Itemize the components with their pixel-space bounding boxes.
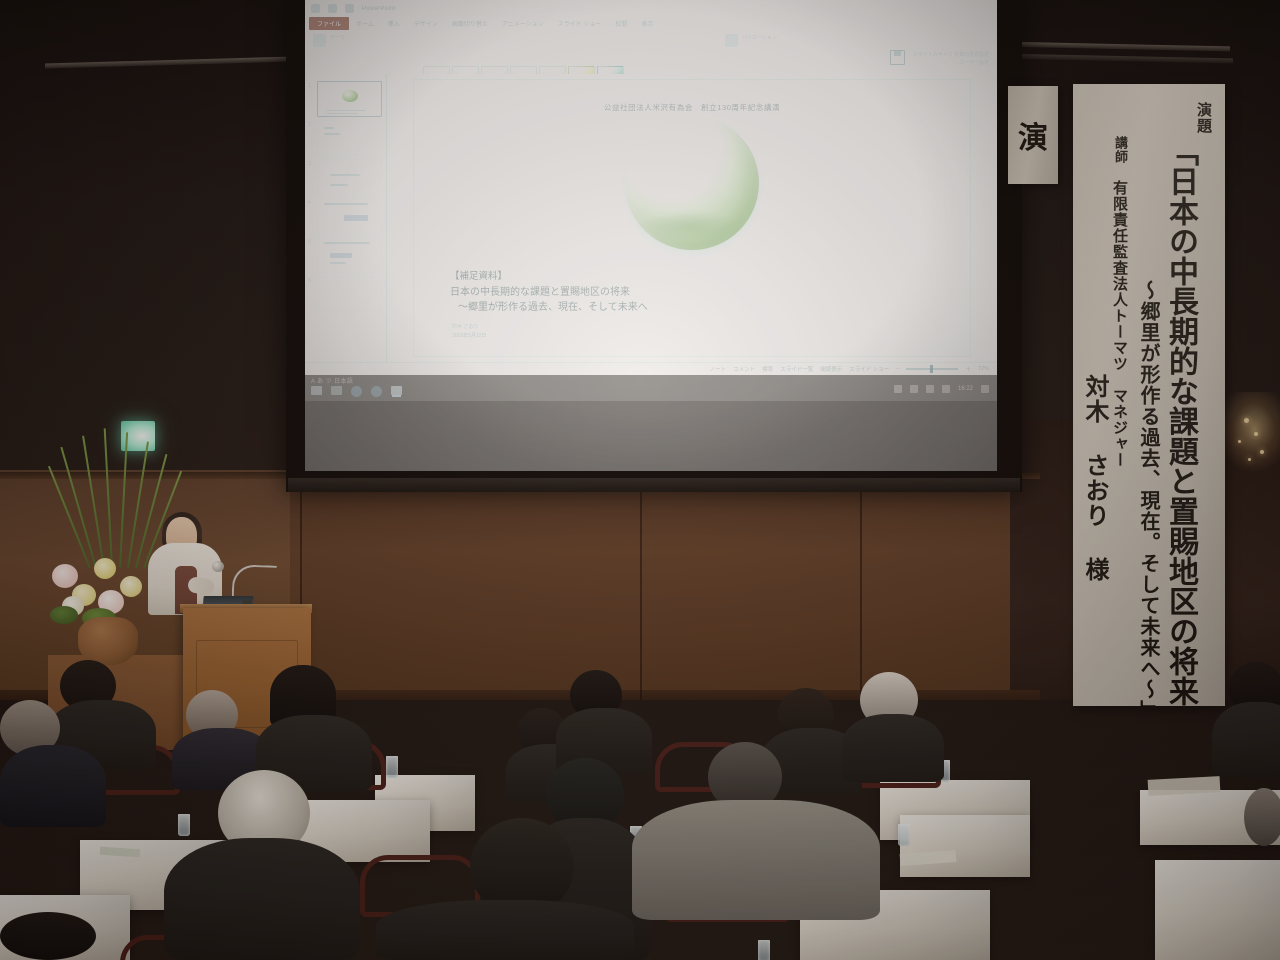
tab-transitions[interactable]: 画面切り替え xyxy=(445,19,495,28)
banner-title: 「日本の中長期的な課題と置賜地区の将来 xyxy=(1165,136,1195,706)
sphere-graphic xyxy=(625,116,759,250)
edge-icon[interactable] xyxy=(371,386,382,397)
ribbon-group-label: テーマ xyxy=(330,34,345,41)
slide-number: 4 xyxy=(308,200,311,206)
flower-bloom xyxy=(94,558,116,579)
undo-quick-icon[interactable] xyxy=(345,4,354,13)
ime-icon[interactable] xyxy=(942,385,950,393)
slide-footer: 対木 さおり 2019年5月22日 xyxy=(452,323,486,340)
variants-icon[interactable] xyxy=(725,34,738,47)
banner-affiliation: 有限責任監査法人トーマツ マネジャー xyxy=(1112,180,1127,468)
flower-grass-stems xyxy=(75,436,175,568)
tab-animations[interactable]: アニメーション xyxy=(495,19,551,28)
tab-home[interactable]: ホーム xyxy=(349,19,381,28)
comments-button[interactable]: コメント xyxy=(733,365,755,373)
audience-head xyxy=(1244,788,1280,846)
slide-footer-date: 2019年5月22日 xyxy=(452,332,486,341)
zoom-in-button[interactable]: ＋ xyxy=(965,365,971,373)
audience-person xyxy=(842,714,944,782)
slide-title-line-2: 〜郷里が形作る過去、現在、そして未来へ xyxy=(450,300,648,316)
zoom-slider[interactable] xyxy=(906,368,958,370)
chandelier-light xyxy=(1218,392,1280,472)
view-normal-button[interactable]: 標準 xyxy=(762,365,773,373)
view-sorter-button[interactable]: スライド一覧 xyxy=(780,365,813,373)
slide-navigator-pane[interactable]: 1 2 3 4 xyxy=(305,74,387,362)
slide-size-label: スライドのサイズ 背景の書式設定 xyxy=(913,52,989,60)
projection-screen-bottom-bar xyxy=(288,478,1020,492)
tab-file[interactable]: ファイル xyxy=(309,17,349,30)
save-quick-icon[interactable] xyxy=(328,4,337,13)
slide-thumbnail-2[interactable]: 2 xyxy=(317,120,382,156)
screen-lower-dark-band xyxy=(305,401,997,471)
thumbnail-sphere-graphic xyxy=(342,90,358,102)
tab-insert[interactable]: 挿入 xyxy=(381,19,407,28)
banner-speaker-name: 対木 さおり 様 xyxy=(1083,374,1107,582)
slide-bracket-line: 【補足資料】 xyxy=(450,270,648,285)
slide-thumbnail-6[interactable]: 6 xyxy=(317,276,382,312)
tab-design[interactable]: デザイン xyxy=(407,19,445,28)
audience-person xyxy=(632,800,880,920)
taskbar-clock[interactable]: 16:22 xyxy=(958,386,973,392)
secondary-banner: 演 xyxy=(1008,86,1058,184)
water-glass xyxy=(898,824,910,846)
windows-taskbar[interactable]: A あ ツ 日本語 16:22 xyxy=(305,375,997,401)
volume-icon[interactable] xyxy=(926,385,934,393)
wall-seam xyxy=(860,470,862,700)
wall-seam xyxy=(640,470,642,700)
zoom-level-label[interactable]: 72% xyxy=(978,366,989,372)
slide-size-icon[interactable] xyxy=(890,50,905,65)
window-title: PowerPoint xyxy=(362,6,396,12)
flower-vase xyxy=(78,617,138,665)
powerpoint-tab-bar: ファイル ホーム 挿入 デザイン 画面切り替え アニメーション スライド ショー… xyxy=(305,17,997,30)
flower-foliage xyxy=(50,606,78,624)
view-slideshow-button[interactable]: スライド ショー xyxy=(849,365,889,373)
powerpoint-window: PowerPoint ファイル ホーム 挿入 デザイン 画面切り替え アニメーシ… xyxy=(305,0,997,471)
audience-person xyxy=(1212,702,1280,778)
audience-person xyxy=(376,900,634,960)
theme-gallery-icon[interactable] xyxy=(313,34,326,47)
slide-canvas[interactable]: 公益社団法人米沢有為会 創立130周年記念講演 【補足資料】 日本の中長期的な課… xyxy=(387,74,997,362)
tab-slideshow[interactable]: スライド ショー xyxy=(551,19,609,28)
water-glass xyxy=(758,940,770,960)
slide-number: 3 xyxy=(308,161,311,167)
slide-number: 1 xyxy=(308,83,311,89)
slide-thumbnail-4[interactable]: 4 xyxy=(317,198,382,234)
slide-number: 6 xyxy=(308,278,311,284)
flower-bloom xyxy=(120,576,142,597)
slide-header-text: 公益社団法人米沢有為会 創立130周年記念講演 xyxy=(414,102,970,113)
table-right-near xyxy=(900,815,1030,877)
banner-kicker: 演題 xyxy=(1196,102,1211,134)
audience-person xyxy=(164,838,360,960)
tab-view[interactable]: 表示 xyxy=(634,19,660,28)
ribbon-group-themes: テーマ xyxy=(313,34,345,47)
slide-body-text: 【補足資料】 日本の中長期的な課題と置賜地区の将来 〜郷里が形作る過去、現在、そ… xyxy=(450,270,648,316)
slide-footer-author: 対木 さおり xyxy=(452,323,486,332)
tab-review[interactable]: 校閲 xyxy=(608,19,634,28)
slide-number: 5 xyxy=(308,239,311,245)
zoom-slider-knob[interactable] xyxy=(930,365,933,373)
slide-thumbnail-1[interactable]: 1 xyxy=(317,81,382,117)
audience-head xyxy=(0,912,96,960)
ime-status-label: A あ ツ 日本語 xyxy=(311,376,353,385)
flower-bloom xyxy=(52,564,78,588)
slide-title-line-1: 日本の中長期的な課題と置賜地区の将来 xyxy=(450,285,648,301)
main-event-banner: 演題 「日本の中長期的な課題と置賜地区の将来 〜郷里が形作る過去、現在。そして未… xyxy=(1073,84,1225,706)
system-tray[interactable]: 16:22 xyxy=(894,385,989,393)
microphone-head xyxy=(212,561,224,572)
powerpoint-title-bar: PowerPoint xyxy=(305,0,997,17)
browser-icon[interactable] xyxy=(351,386,362,397)
view-reading-button[interactable]: 閲読表示 xyxy=(820,365,842,373)
ribbon-group-label: バリエーション xyxy=(742,34,777,41)
banner-speaker-label: 講師 xyxy=(1113,136,1126,164)
powerpoint-status-bar: ノート コメント 標準 スライド一覧 閲読表示 スライド ショー − ＋ 72% xyxy=(305,362,997,375)
ribbon-right-labels: スライドのサイズ 背景の書式設定 ユーザー設定 xyxy=(913,52,989,67)
action-center-icon[interactable] xyxy=(981,385,989,393)
powerpoint-ribbon: テーマ xyxy=(305,30,997,75)
start-button-icon[interactable] xyxy=(311,386,322,395)
network-icon[interactable] xyxy=(910,385,918,393)
secondary-banner-character: 演 xyxy=(1018,113,1048,157)
explorer-icon[interactable] xyxy=(331,386,342,395)
current-slide: 公益社団法人米沢有為会 創立130周年記念講演 【補足資料】 日本の中長期的な課… xyxy=(414,80,970,356)
slide-thumbnail-3[interactable]: 3 xyxy=(317,159,382,195)
room-wall-panel-mid xyxy=(290,470,1030,700)
ribbon-group-variants: バリエーション xyxy=(725,34,777,47)
slide-thumbnail-5[interactable]: 5 xyxy=(317,237,382,273)
slide-number: 2 xyxy=(308,122,311,128)
table-far-right-front xyxy=(1155,860,1280,960)
banner-subtitle: 〜郷里が形作る過去、現在。そして未来へ〜」 xyxy=(1139,280,1159,706)
projection-screen-surface: PowerPoint ファイル ホーム 挿入 デザイン 画面切り替え アニメーシ… xyxy=(305,0,997,471)
office-logo-icon xyxy=(311,4,320,13)
customize-label: ユーザー設定 xyxy=(913,60,989,68)
chevron-up-icon[interactable] xyxy=(894,385,902,393)
water-glass xyxy=(178,814,190,836)
audience-person xyxy=(0,745,106,827)
water-glass xyxy=(386,756,398,778)
taskbar-app-icons[interactable] xyxy=(311,386,402,397)
notes-button[interactable]: ノート xyxy=(710,365,727,373)
powerpoint-taskbar-icon[interactable] xyxy=(391,386,402,395)
conference-hall-photo: PowerPoint ファイル ホーム 挿入 デザイン 画面切り替え アニメーシ… xyxy=(0,0,1280,960)
zoom-out-button[interactable]: − xyxy=(896,366,899,372)
